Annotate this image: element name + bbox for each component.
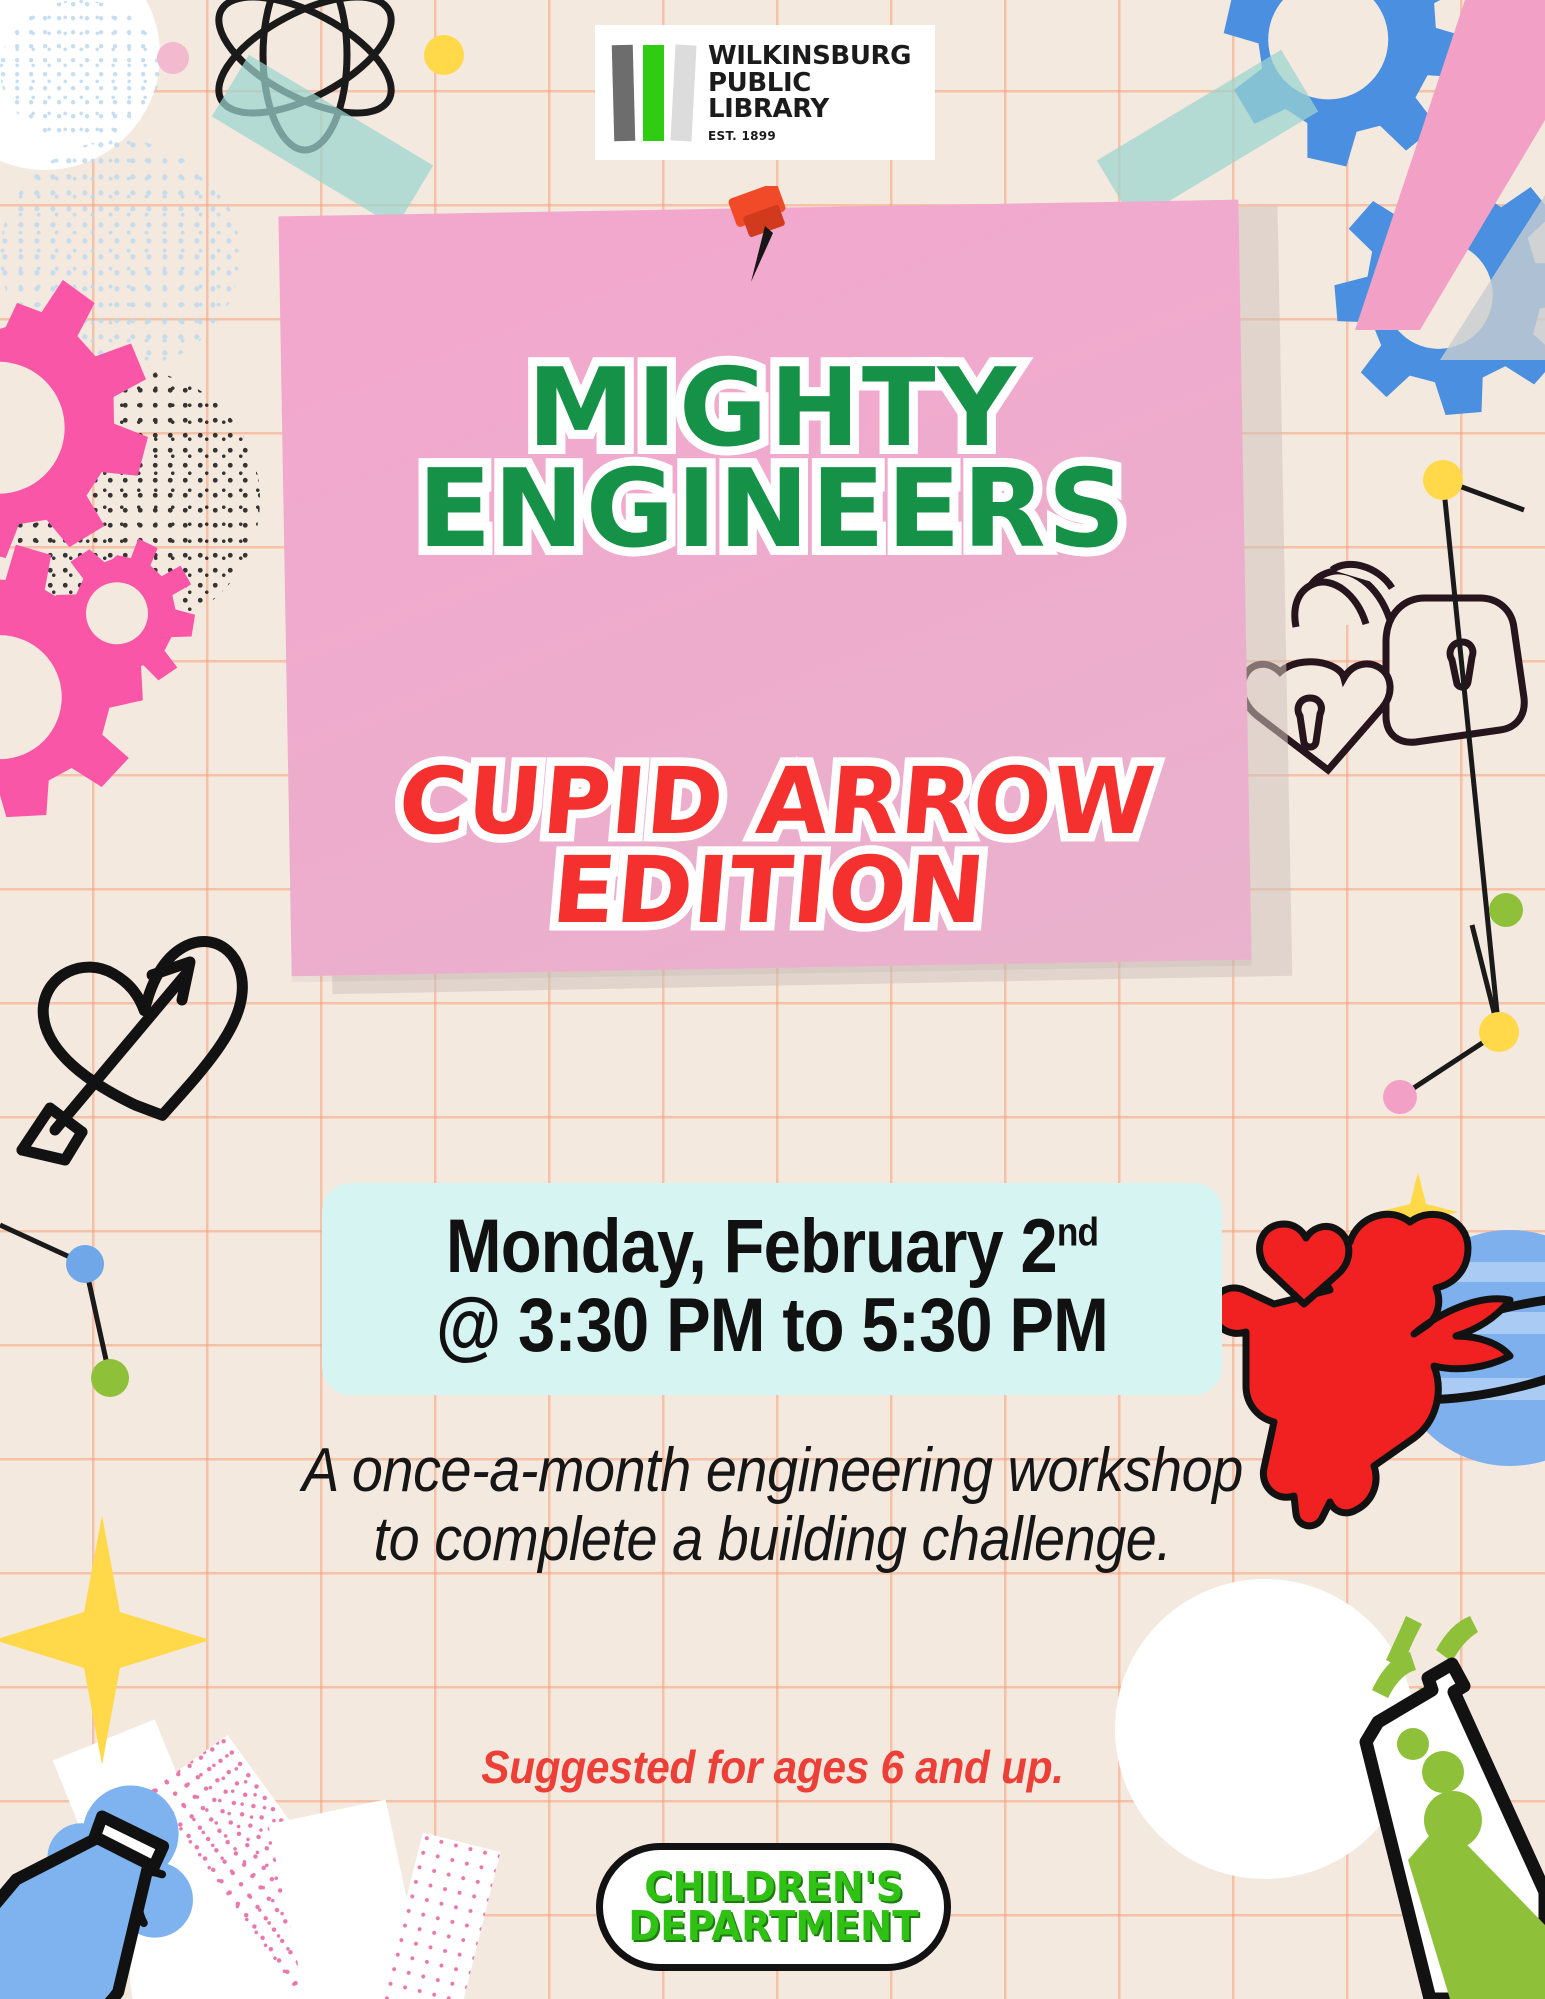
decorative-blob-bottom-right [1115, 1579, 1415, 1879]
date-text: Monday, February 2 [446, 1204, 1057, 1289]
badge-line-2: DEPARTMENT [628, 1907, 918, 1946]
push-pin-icon [721, 186, 811, 286]
date-line: Monday, February 2nd [402, 1207, 1141, 1286]
time-line: @ 3:30 PM to 5:30 PM [402, 1286, 1141, 1365]
logo-line-1: WILKINSBURG [708, 43, 911, 70]
logo-established: EST. 1899 [708, 130, 911, 142]
speckle-blob-right [0, 140, 240, 370]
library-logo: WILKINSBURG PUBLIC LIBRARY EST. 1899 [595, 25, 935, 160]
logo-bar-light [671, 44, 697, 141]
poster-canvas: MIGHTY ENGINEERS CUPID ARROW EDITION WIL… [0, 0, 1545, 1999]
logo-line-3: LIBRARY [708, 96, 911, 123]
date-time-banner: Monday, February 2nd @ 3:30 PM to 5:30 P… [322, 1183, 1222, 1395]
description-text: A once-a-month engineering workshop to c… [289, 1436, 1257, 1575]
logo-bar-green [643, 45, 664, 141]
childrens-department-badge: CHILDREN'S DEPARTMENT [596, 1843, 951, 1971]
poster-card [278, 200, 1251, 977]
age-suggestion-text: Suggested for ages 6 and up. [278, 1740, 1267, 1794]
speckle-blob-top-left [0, 0, 160, 140]
date-ordinal-suffix: nd [1057, 1211, 1098, 1255]
logo-book-bars-icon [613, 45, 694, 141]
logo-bar-gray [612, 44, 636, 141]
logo-line-2: PUBLIC [708, 70, 911, 97]
logo-wordmark: WILKINSBURG PUBLIC LIBRARY EST. 1899 [708, 43, 911, 142]
speckle-blob-bottom-right [0, 370, 260, 630]
